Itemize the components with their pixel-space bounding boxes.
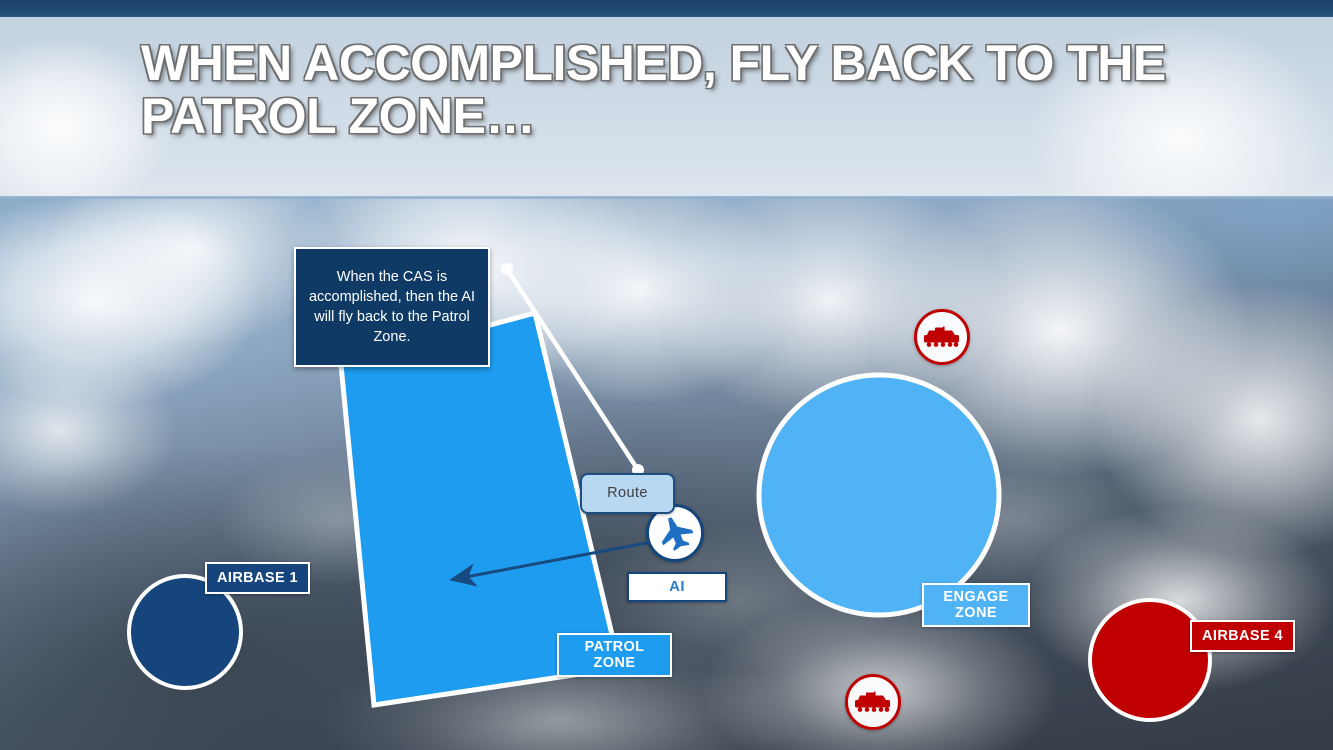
engage-zone-label-line-1: ENGAGE xyxy=(943,589,1008,605)
patrol-zone-label[interactable]: PATROL ZONE xyxy=(557,633,672,677)
ai-label[interactable]: AI xyxy=(627,572,727,602)
enemy-unit-marker-2[interactable] xyxy=(845,674,901,730)
engage-zone-circle[interactable] xyxy=(759,375,999,615)
callout-box: When the CAS is accomplished, then the A… xyxy=(294,247,490,367)
airbase-1-label-text: AIRBASE 1 xyxy=(217,570,298,586)
airbase-1-label[interactable]: AIRBASE 1 xyxy=(205,562,310,594)
airbase-4-circle[interactable] xyxy=(1090,600,1210,720)
engage-zone-label-line-2: ZONE xyxy=(955,605,997,621)
route-label[interactable]: Route xyxy=(580,473,675,514)
tank-icon xyxy=(853,691,893,713)
tank-icon xyxy=(922,326,962,348)
patrol-zone-label-line-2: ZONE xyxy=(594,655,636,671)
ai-label-text: AI xyxy=(669,579,685,596)
airbase-4-label[interactable]: AIRBASE 4 xyxy=(1190,620,1295,652)
airbase-4-label-text: AIRBASE 4 xyxy=(1202,628,1283,644)
callout-text: When the CAS is accomplished, then the A… xyxy=(304,267,480,347)
engage-zone-label[interactable]: ENGAGE ZONE xyxy=(922,583,1030,627)
route-leader-start-dot xyxy=(501,263,513,275)
enemy-unit-marker-1[interactable] xyxy=(914,309,970,365)
route-label-text: Route xyxy=(607,485,648,501)
fighter-jet-icon xyxy=(654,514,696,552)
presentation-slide: WHEN ACCOMPLISHED, FLY BACK TO THE PATRO… xyxy=(0,0,1333,750)
patrol-zone-label-line-1: PATROL xyxy=(585,639,645,655)
